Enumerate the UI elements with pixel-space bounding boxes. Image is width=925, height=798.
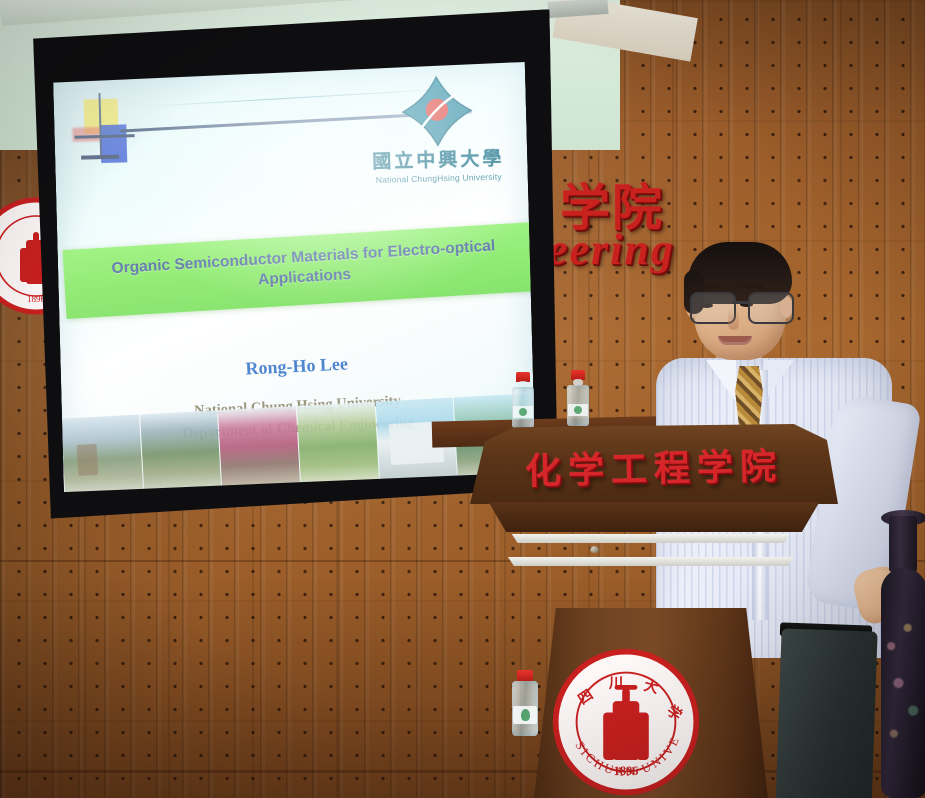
- podium: 化学工程学院 四 川: [470, 418, 840, 798]
- nchu-diamond-mark: [399, 73, 475, 149]
- mouth: [718, 336, 752, 345]
- podium-trim-band: [502, 557, 800, 566]
- wall-sign-english: eering: [548, 224, 675, 275]
- eyeglasses-icon: [688, 292, 792, 322]
- podium-sign-text: 化学工程学院: [479, 436, 828, 495]
- sichuan-university-emblem: 四 川 大 学 SICHUAN UNIVERSITY 1896: [550, 646, 702, 798]
- nchu-name-chinese: 國立中興大學: [363, 143, 514, 174]
- bottle-label: [513, 706, 537, 724]
- vase-neck: [889, 516, 917, 572]
- bottle-cap: [517, 670, 533, 681]
- nose: [728, 308, 739, 330]
- campus-photo: [218, 406, 300, 488]
- emblem-year: 1896: [614, 764, 639, 778]
- shirt-collar-right: [764, 360, 794, 402]
- nchu-logo: 國立中興大學 National ChungHsing University: [361, 72, 514, 184]
- bottle-label: [513, 406, 533, 418]
- podium-knob: [590, 546, 599, 553]
- vase-body: [881, 568, 925, 798]
- podium-trim-band: [506, 534, 796, 543]
- shirt-collar-left: [706, 360, 736, 402]
- bottle-label: [568, 404, 588, 416]
- slide-author: Rong-Ho Lee: [60, 345, 532, 389]
- svg-text:川: 川: [608, 676, 623, 692]
- slide-title-band: Organic Semiconductor Materials for Elec…: [63, 222, 536, 319]
- slide-title: Organic Semiconductor Materials for Elec…: [77, 234, 531, 302]
- lecture-hall-photo: 学院 eering 1896: [0, 0, 925, 798]
- campus-photo: [61, 415, 143, 493]
- podium-lip: [478, 502, 830, 532]
- campus-photo: [140, 410, 222, 492]
- lens-right: [748, 292, 794, 324]
- glasses-bridge: [732, 301, 748, 304]
- campus-photo: [297, 402, 379, 484]
- water-bottle: [510, 670, 540, 736]
- porcelain-vase: [881, 516, 925, 798]
